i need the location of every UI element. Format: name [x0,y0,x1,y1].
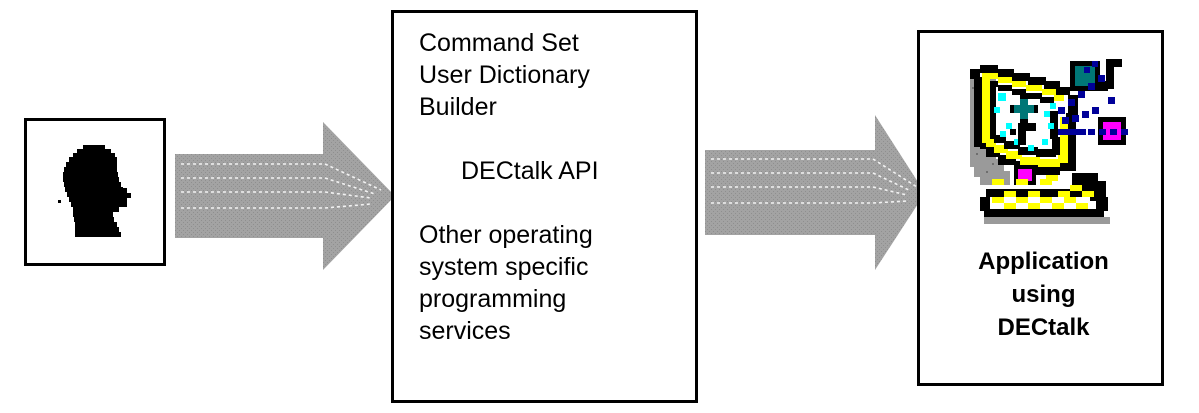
api-box-text: Command Set User Dictionary Builder DECt… [419,27,689,347]
api-line-user-dictionary: User Dictionary [419,59,689,91]
source-box-head [24,118,166,266]
api-line-programming: programming [419,283,689,315]
head-silhouette-icon [55,143,139,243]
api-line-dectalk-api: DECtalk API [419,155,689,187]
arrow-api-to-app [705,115,925,270]
diagram-canvas: Command Set User Dictionary Builder DECt… [0,0,1199,413]
application-caption: Application using DECtalk [920,245,1167,344]
api-line-other-operating: Other operating [419,219,689,251]
api-line-system-specific: system specific [419,251,689,283]
computer-multimedia-icon [962,51,1134,238]
api-box: Command Set User Dictionary Builder DECt… [391,10,698,403]
api-line-command-set: Command Set [419,27,689,59]
app-caption-line-application: Application [920,245,1167,278]
app-caption-line-using: using [920,278,1167,311]
api-line-services: services [419,315,689,347]
api-text-spacer-2 [419,187,689,219]
app-caption-line-dectalk: DECtalk [920,311,1167,344]
application-box: Application using DECtalk [917,30,1164,386]
arrow-head-to-api [175,122,395,270]
api-text-spacer-1 [419,123,689,155]
api-line-builder: Builder [419,91,689,123]
